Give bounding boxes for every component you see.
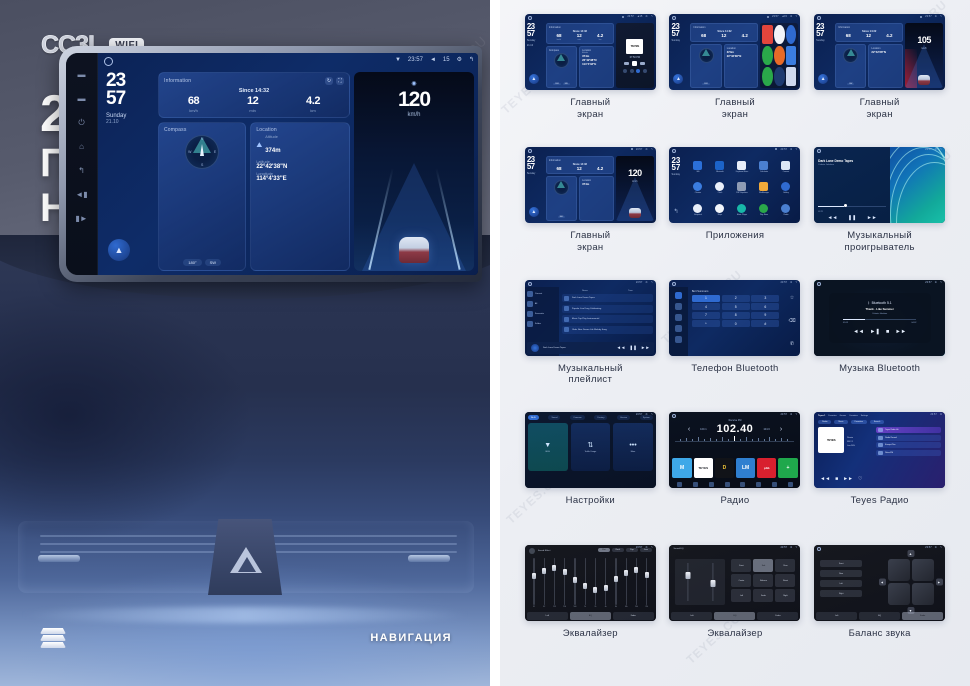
- sidebar-item[interactable]: Favourite: [527, 311, 557, 317]
- head-unit-screen[interactable]: ▬ ▬ ⏻ ⌂ ↰ ◄▮ ▮► ▼ 23:57 ◄ 15 ⚙ ↰: [66, 53, 478, 275]
- gear-icon[interactable]: ⚙: [790, 148, 792, 151]
- stop-icon[interactable]: [632, 61, 637, 66]
- information-card[interactable]: Information Since 14:32 68 12 4.2: [835, 23, 903, 42]
- gear-icon[interactable]: ⚙: [940, 413, 942, 416]
- volume-down-icon[interactable]: ▬: [78, 71, 86, 79]
- app-icon-spotify[interactable]: [762, 46, 772, 65]
- progress-slider[interactable]: [843, 319, 917, 320]
- gear-icon[interactable]: ⚙: [645, 413, 647, 416]
- thumbnail-music-player[interactable]: Dark Lane Demo Tapes Cubeta Jukebox 02:2…: [814, 147, 945, 223]
- play-pause-icon[interactable]: ►❚: [870, 329, 880, 335]
- app-icon-maps[interactable]: [715, 204, 724, 213]
- dial-key[interactable]: 7: [692, 312, 720, 319]
- speaker-rear-right[interactable]: [912, 583, 934, 605]
- next-station-icon[interactable]: ›: [780, 426, 782, 433]
- stop-icon[interactable]: ■: [886, 329, 889, 335]
- app-icon-music[interactable]: [762, 25, 772, 44]
- station-list[interactable]: Teyes Radio Hit Radio Record Europa Plus…: [876, 427, 941, 456]
- fader-key[interactable]: Right: [775, 589, 795, 602]
- filter-music[interactable]: Music: [834, 420, 847, 424]
- app-icon-bluetooth[interactable]: [715, 161, 724, 170]
- app-icon-calculator[interactable]: [759, 161, 768, 170]
- gallery-item[interactable]: 23:57 ⚙ ↰ Current All Favourite Folder N…: [518, 280, 663, 413]
- teyes-radio-filters[interactable]: Radio Music Favorites Search: [814, 417, 945, 424]
- settings-card-wifi[interactable]: ▼ Wi-Fi: [528, 423, 568, 471]
- app-item[interactable]: Clock: [709, 178, 730, 198]
- preset-rock[interactable]: Rock: [612, 548, 625, 552]
- app-icon-radio[interactable]: [774, 46, 784, 65]
- location-card[interactable]: Location 374m 22°42'38"N: [724, 44, 759, 89]
- fader-key[interactable]: Fader: [753, 589, 773, 602]
- app-item[interactable]: Wifi: [687, 157, 708, 177]
- speed-widget[interactable]: speed-icon ◉ 120 km/h: [354, 72, 474, 271]
- fader-key[interactable]: Reset: [775, 574, 795, 587]
- home-circle-icon[interactable]: [817, 547, 821, 551]
- tab-left[interactable]: Left: [816, 612, 857, 620]
- tab-eq[interactable]: EQ: [570, 612, 611, 620]
- back-icon[interactable]: ↰: [795, 15, 797, 18]
- thumbnail-home-screen-speed-red[interactable]: 23:57 ⚙ ↰ 23 57 Sunday ▲ Inf: [814, 14, 945, 90]
- hardware-button-rail[interactable]: ▬ ▬ ⏻ ⌂ ↰ ◄▮ ▮►: [66, 53, 98, 275]
- location-card[interactable]: Location ⛰ Altitude 374m Latitude: [250, 122, 350, 271]
- eq-band-sliders[interactable]: 31 62 125 250 500 1k 2k 4k 8k 16k 20k 22…: [529, 558, 652, 608]
- gallery-item[interactable]: 23:57 ◄15 ⚙ ↰ 23 57 Sunday ▲: [663, 14, 808, 147]
- head-unit-display[interactable]: ▼ 23:57 ◄ 15 ⚙ ↰ 23 57 Sunday 21.10 ▲: [98, 53, 478, 275]
- prev-track-icon[interactable]: ◄◄: [827, 215, 837, 221]
- compass-card[interactable]: 180°: [690, 44, 721, 89]
- thumbnail-radio[interactable]: 23:57 ⚙ ↰ Receive FM ‹ 100.1 102.40 104.…: [669, 412, 800, 488]
- home-circle-icon[interactable]: [672, 282, 676, 286]
- app-icon-gallery[interactable]: [781, 182, 790, 191]
- pause-icon[interactable]: ❚❚: [848, 215, 856, 221]
- back-icon[interactable]: ↰: [651, 413, 653, 416]
- eq-tabs[interactable]: Left EQ Fader: [816, 612, 943, 620]
- gear-icon[interactable]: ⚙: [935, 281, 937, 284]
- list-icon[interactable]: [725, 482, 730, 487]
- balance-pad[interactable]: ▲ ▼ ◄ ►: [888, 559, 934, 605]
- information-card[interactable]: Information ↻ ⛶ Since 14:32 68 km: [158, 72, 350, 118]
- eq-band[interactable]: 62: [539, 558, 549, 608]
- back-icon[interactable]: ↰: [795, 413, 797, 416]
- app-icon-mail[interactable]: [786, 46, 796, 65]
- navigation-arrow-icon[interactable]: ▲: [529, 207, 539, 217]
- volume-icon[interactable]: ◄: [430, 57, 436, 63]
- more-icon[interactable]: [643, 69, 647, 73]
- thumbnail-bluetooth-music[interactable]: 23:57 ⚙ ↰ ᛒBluetooth 5.1 Thank - Like Su…: [814, 280, 945, 356]
- playlist-icon[interactable]: [636, 69, 640, 73]
- dialer-pad[interactable]: Bert Summers 1 2 3 4 5 6 7 8 9: [688, 287, 784, 356]
- dialer-sidebar[interactable]: [669, 287, 687, 356]
- gear-icon[interactable]: ⚙: [645, 148, 647, 151]
- fader-key[interactable]: Sub: [753, 559, 773, 572]
- filter-radio[interactable]: Radio: [818, 420, 831, 424]
- app-icon-music-player[interactable]: [737, 204, 746, 213]
- information-card[interactable]: Information Since 14:32 68 12 4.2: [546, 156, 614, 175]
- home-circle-icon[interactable]: [528, 282, 532, 286]
- gallery-item[interactable]: 23:57 ⚙ ↰ Sound EQ Front Sub Rear: [663, 545, 808, 678]
- fader-slider[interactable]: [710, 563, 716, 601]
- information-card[interactable]: Information Since 14:32 68km/h 12min 4.2…: [546, 23, 614, 44]
- tab-teyes-1[interactable]: Teyes 1: [818, 415, 825, 417]
- gear-icon[interactable]: ⚙: [457, 56, 462, 63]
- tab-factory[interactable]: Factory: [594, 415, 607, 420]
- app-item[interactable]: Music Player: [731, 199, 752, 219]
- gear-icon[interactable]: ⚙: [790, 281, 792, 284]
- gallery-item[interactable]: Dark Lane Demo Tapes Cubeta Jukebox 02:2…: [807, 147, 952, 280]
- clock-widget[interactable]: 23 57 Sunday 21.10 ▲: [527, 23, 544, 88]
- list-item[interactable]: Radio Record: [876, 435, 941, 441]
- preset-stations[interactable]: M TEYES D LM pbb +: [672, 458, 797, 478]
- location-card[interactable]: Location Altitude 374m 22°42'38"N 114°4'…: [579, 46, 614, 89]
- navigation-arrow-icon[interactable]: ▲: [673, 74, 683, 84]
- eq-band[interactable]: 20k: [631, 558, 641, 608]
- home-circle-icon[interactable]: [104, 57, 113, 66]
- tab-fader[interactable]: Fader: [757, 612, 798, 620]
- app-icon-wifi[interactable]: [693, 161, 702, 170]
- home-circle-icon[interactable]: [672, 149, 676, 153]
- prev-track-icon[interactable]: ◄◄: [616, 345, 625, 350]
- af-icon[interactable]: [756, 482, 761, 487]
- eq-band[interactable]: 500: [570, 558, 580, 608]
- next-track-icon[interactable]: [640, 62, 645, 65]
- compass-card[interactable]: Compass N E S W 180°: [158, 122, 246, 271]
- tab-left[interactable]: Left: [671, 612, 712, 620]
- list-item[interactable]: Teyes Radio Hit: [876, 427, 941, 433]
- speaker-front-right[interactable]: [912, 559, 934, 581]
- eq-band[interactable]: 125: [549, 558, 559, 608]
- back-icon[interactable]: ↰: [651, 546, 653, 549]
- band-icon[interactable]: [677, 482, 682, 487]
- thumbnail-bluetooth-phone[interactable]: 23:57 ⚙ ↰ Bert Summers: [669, 280, 800, 356]
- gallery-item[interactable]: 23:57 ⚙ ↰ 23 57 Sunday ↰ Wifi Bluetooth …: [663, 147, 808, 280]
- dial-key[interactable]: 6: [751, 303, 779, 310]
- gallery-item[interactable]: 23:57 ⚙ ↰ ᛒBluetooth 5.1 Thank - Like Su…: [807, 280, 952, 413]
- thumbnail-equalizer-fader[interactable]: 23:57 ⚙ ↰ Sound EQ Front Sub Rear: [669, 545, 800, 621]
- gallery-item[interactable]: 23:57 ◄15 ⚙ ↰ 23 57 Sunday 21.10 ▲: [518, 14, 663, 147]
- gear-icon[interactable]: ⚙: [645, 546, 647, 549]
- expand-icon[interactable]: ⛶: [336, 77, 344, 85]
- pause-icon[interactable]: ❚❚: [629, 345, 637, 351]
- thumbnail-apps[interactable]: 23:57 ⚙ ↰ 23 57 Sunday ↰ Wifi Bluetooth …: [669, 147, 800, 223]
- app-icon-chrome[interactable]: [693, 182, 702, 191]
- dial-key[interactable]: 3: [751, 295, 779, 302]
- gallery-item[interactable]: 23:57 ⚙ ↰ Sound Effect Flat Rock Pop Jaz…: [518, 545, 663, 678]
- gallery-item[interactable]: 23:57 ⚙ Teyes 1 Favorites Genres Countri…: [807, 412, 952, 545]
- navigation-arrow-icon[interactable]: ▲: [108, 239, 130, 261]
- search-icon[interactable]: [693, 482, 698, 487]
- app-drawer[interactable]: Wifi Bluetooth Keyboard Store Calculator…: [685, 155, 798, 222]
- thumbnail-music-playlist[interactable]: 23:57 ⚙ ↰ Current All Favourite Folder N…: [525, 280, 656, 356]
- call-icon[interactable]: ✆: [790, 341, 794, 347]
- station-preset[interactable]: pbb: [757, 458, 776, 478]
- dial-key[interactable]: 8: [722, 312, 750, 319]
- home-circle-icon[interactable]: [672, 16, 676, 20]
- search-icon[interactable]: [675, 314, 682, 321]
- app-icon-settings[interactable]: [774, 67, 784, 86]
- app-icon-keyboard-store[interactable]: [737, 161, 746, 170]
- thumbnail-teyes-radio[interactable]: 23:57 ⚙ Teyes 1 Favorites Genres Countri…: [814, 412, 945, 488]
- eq-band[interactable]: 31: [529, 558, 539, 608]
- back-icon[interactable]: ↰: [795, 281, 797, 284]
- vent-control[interactable]: [38, 555, 80, 562]
- prev-track-icon[interactable]: ◄◄: [853, 329, 864, 335]
- list-item[interactable]: Retro FM: [876, 450, 941, 456]
- station-preset[interactable]: D: [715, 458, 734, 478]
- ta-icon[interactable]: [772, 482, 777, 487]
- contacts-icon[interactable]: [675, 303, 682, 310]
- location-card[interactable]: Location 22°42'38"N: [868, 44, 903, 89]
- dial-key[interactable]: 4: [692, 303, 720, 310]
- gear-icon[interactable]: ⚙: [790, 15, 792, 18]
- prev-station-icon[interactable]: ‹: [688, 426, 690, 433]
- dial-key[interactable]: 2: [722, 295, 750, 302]
- fader-sliders[interactable]: [675, 559, 725, 605]
- frequency-scale[interactable]: [675, 437, 794, 442]
- location-card[interactable]: Location 374m: [579, 176, 614, 221]
- next-track-icon[interactable]: ▮►: [75, 215, 87, 223]
- back-icon[interactable]: ↰: [940, 15, 942, 18]
- settings-card-traffic[interactable]: ⇅ Traffic Usage: [571, 423, 611, 471]
- refresh-icon[interactable]: ↻: [325, 77, 333, 85]
- backspace-icon[interactable]: ⌫: [788, 318, 795, 324]
- next-track-icon[interactable]: ►►: [641, 345, 650, 350]
- home-circle-icon[interactable]: [528, 16, 532, 20]
- back-icon[interactable]: ↰: [940, 546, 942, 549]
- shuffle-icon[interactable]: [623, 69, 627, 73]
- back-icon[interactable]: ↰: [795, 148, 797, 151]
- thumbnail-home-screen-speed[interactable]: 23:57 ⚙ ↰ 23 57 Sunday ▲ Inf: [525, 147, 656, 223]
- gear-icon[interactable]: ⚙: [790, 413, 792, 416]
- app-item[interactable]: FileManager: [753, 178, 774, 198]
- fader-keypad[interactable]: Front Sub Rear Center Balance Reset Left…: [731, 559, 795, 602]
- back-icon[interactable]: ↰: [940, 148, 942, 151]
- filter-search[interactable]: Search: [870, 420, 884, 424]
- station-preset[interactable]: TEYES: [694, 458, 713, 478]
- media-widget[interactable]: TEYES 07:50 PM: [616, 23, 654, 88]
- progress-slider[interactable]: [818, 206, 886, 207]
- arrow-left-icon[interactable]: ◄: [879, 579, 886, 586]
- dial-key[interactable]: 9: [751, 312, 779, 319]
- station-preset[interactable]: +: [778, 458, 797, 478]
- fader-key[interactable]: Left: [731, 589, 751, 602]
- speed-widget[interactable]: 105 km/h: [905, 23, 943, 88]
- fader-key[interactable]: Balance: [753, 574, 773, 587]
- power-icon[interactable]: ⏻: [78, 119, 84, 127]
- app-item[interactable]: Play Store: [753, 199, 774, 219]
- tab-sound[interactable]: Sound: [548, 415, 560, 420]
- eq-band[interactable]: 4k: [601, 558, 611, 608]
- app-icon-clock[interactable]: [715, 182, 724, 191]
- volume-up-icon[interactable]: ▬: [78, 95, 86, 103]
- next-track-icon[interactable]: ►►: [867, 215, 877, 221]
- tab-settings[interactable]: Settings: [861, 415, 868, 417]
- app-item[interactable]: Camera: [775, 157, 796, 177]
- clock-widget[interactable]: 23 57 Sunday 21.10 ▲: [102, 72, 154, 271]
- information-card[interactable]: Information Since 14:32 68 12 4.2: [690, 23, 758, 42]
- radio-toolbar[interactable]: [671, 482, 798, 487]
- speaker-front-left[interactable]: [888, 559, 910, 581]
- eq-band[interactable]: 8k: [611, 558, 621, 608]
- speaker-rear-left[interactable]: [888, 583, 910, 605]
- home-circle-icon[interactable]: [817, 149, 821, 153]
- gallery-item[interactable]: 23:57 ⚙ ↰ 23 57 Sunday ▲ Inf: [518, 147, 663, 280]
- compass-card[interactable]: SW: [835, 44, 866, 89]
- back-icon[interactable]: ↰: [795, 546, 797, 549]
- arrow-right-icon[interactable]: ►: [936, 579, 943, 586]
- app-item[interactable]: Kinopoisk: [687, 199, 708, 219]
- app-item[interactable]: DSP Equalizer: [731, 178, 752, 198]
- call-log-icon[interactable]: [675, 325, 682, 332]
- sidebar-item[interactable]: All: [527, 301, 557, 307]
- app-item[interactable]: Gallery: [775, 178, 796, 198]
- back-icon[interactable]: ↰: [940, 281, 942, 284]
- app-item[interactable]: Maps: [709, 199, 730, 219]
- back-icon[interactable]: ↰: [78, 167, 85, 175]
- app-icon-radio[interactable]: [781, 204, 790, 213]
- fader-slider[interactable]: [685, 563, 691, 601]
- gear-icon[interactable]: ⚙: [645, 281, 647, 284]
- equalizer-icon[interactable]: [709, 482, 714, 487]
- dialer-actions[interactable]: ☆ ⌫ ✆: [783, 287, 800, 356]
- layers-icon[interactable]: [40, 628, 66, 648]
- settings-card-more[interactable]: ••• More: [613, 423, 653, 471]
- eq-band[interactable]: 16k: [621, 558, 631, 608]
- clock-widget[interactable]: 23 57 Sunday ▲: [816, 23, 833, 88]
- thumbnail-home-screen-apps[interactable]: 23:57 ◄15 ⚙ ↰ 23 57 Sunday ▲: [669, 14, 800, 90]
- home-circle-icon[interactable]: [817, 16, 821, 20]
- app-icon-camera[interactable]: [781, 161, 790, 170]
- app-icon-all-apps[interactable]: [786, 67, 796, 86]
- station-preset[interactable]: M: [672, 458, 691, 478]
- next-track-icon[interactable]: ►►: [843, 476, 853, 482]
- thumbnail-equalizer[interactable]: 23:57 ⚙ ↰ Sound Effect Flat Rock Pop Jaz…: [525, 545, 656, 621]
- back-icon[interactable]: ↰: [651, 148, 653, 151]
- gallery-item[interactable]: 23:57 ⚙ ↰ Front Rear Left Right: [807, 545, 952, 678]
- home-circle-icon[interactable]: [672, 414, 676, 418]
- app-shortcuts-widget[interactable]: [760, 23, 798, 88]
- tab-fader[interactable]: Fader: [902, 612, 943, 620]
- app-item[interactable]: Radio: [775, 199, 796, 219]
- stop-icon[interactable]: ■: [835, 476, 838, 482]
- favorite-icon[interactable]: ☆: [790, 295, 794, 301]
- navigation-arrow-icon[interactable]: ▲: [818, 74, 828, 84]
- back-icon[interactable]: ↰: [673, 208, 678, 215]
- dial-key[interactable]: 5: [722, 303, 750, 310]
- tab-countries[interactable]: Countries: [849, 415, 858, 417]
- app-icon-chrome[interactable]: [774, 25, 784, 44]
- rds-icon[interactable]: [740, 482, 745, 487]
- fader-key[interactable]: Rear: [775, 559, 795, 572]
- gear-icon[interactable]: ⚙: [935, 148, 937, 151]
- gear-icon[interactable]: ⚙: [935, 15, 937, 18]
- gallery-item[interactable]: 23:57 ⚙ ↰ Bert Summers: [663, 280, 808, 413]
- filter-favorites[interactable]: Favorites: [851, 420, 867, 424]
- tab-eq[interactable]: EQ: [714, 612, 755, 620]
- app-item[interactable]: Chrome: [687, 178, 708, 198]
- gallery-item[interactable]: 23:57 ⚙ ↰ Receive FM ‹ 100.1 102.40 104.…: [663, 412, 808, 545]
- app-item[interactable]: Bluetooth: [709, 157, 730, 177]
- tab-common[interactable]: Common: [570, 415, 584, 420]
- thumbnail-home-screen-media[interactable]: 23:57 ◄15 ⚙ ↰ 23 57 Sunday 21.10 ▲: [525, 14, 656, 90]
- home-circle-icon[interactable]: [528, 149, 532, 153]
- eq-band[interactable]: 22k: [642, 558, 652, 608]
- navigation-arrow-icon[interactable]: ▲: [529, 74, 539, 84]
- clock-widget[interactable]: 23 57 Sunday ▲: [527, 156, 544, 221]
- repeat-icon[interactable]: [630, 69, 634, 73]
- gallery-item[interactable]: 23:57 ⚙ ↰ Wi-Fi Sound Common Factory Ver…: [518, 412, 663, 545]
- compass-card[interactable]: 180°: [546, 176, 577, 221]
- dialpad-icon[interactable]: [675, 292, 682, 299]
- tab-fader[interactable]: Fader: [613, 612, 654, 620]
- speed-widget[interactable]: 120 km/h: [616, 156, 654, 221]
- favorite-icon[interactable]: ♡: [858, 476, 862, 482]
- prev-track-icon[interactable]: [624, 62, 629, 65]
- list-item[interactable]: Europa Plus: [876, 442, 941, 448]
- tab-wifi[interactable]: Wi-Fi: [528, 415, 539, 420]
- eq-tabs[interactable]: Left EQ Fader: [671, 612, 798, 620]
- app-icon-filemanager[interactable]: [759, 182, 768, 191]
- app-icon-maps[interactable]: [786, 25, 796, 44]
- app-item[interactable]: Keyboard Store: [731, 157, 752, 177]
- thumbnail-settings[interactable]: 23:57 ⚙ ↰ Wi-Fi Sound Common Factory Ver…: [525, 412, 656, 488]
- gear-icon[interactable]: ⚙: [935, 546, 937, 549]
- sidebar-item[interactable]: Current: [527, 291, 557, 297]
- eq-band[interactable]: 250: [560, 558, 570, 608]
- next-track-icon[interactable]: ►►: [895, 329, 906, 335]
- app-icon-dsp-equalizer[interactable]: [737, 182, 746, 191]
- app-icon-play-store[interactable]: [762, 67, 772, 86]
- tab-left[interactable]: Left: [527, 612, 568, 620]
- dial-key[interactable]: #: [751, 320, 779, 327]
- sidebar-item[interactable]: Folder: [527, 321, 557, 327]
- settings-icon[interactable]: [675, 336, 682, 343]
- table-row[interactable]: Popular Live Drag Celebrating: [562, 305, 653, 313]
- clock-widget[interactable]: 23 57 Sunday ▲: [671, 23, 688, 88]
- arrow-up-icon[interactable]: ▲: [907, 550, 914, 557]
- fader-key[interactable]: Center: [731, 574, 751, 587]
- preset-flat[interactable]: Flat: [598, 548, 609, 552]
- tab-genres[interactable]: Genres: [840, 415, 847, 417]
- prev-track-icon[interactable]: ◄◄: [820, 476, 830, 482]
- now-playing-bar[interactable]: Dark Lane Demo Tapes ◄◄ ❚❚ ►►: [527, 342, 654, 354]
- dial-key[interactable]: 1: [692, 295, 720, 302]
- app-icon-kinopoisk[interactable]: [693, 204, 702, 213]
- gallery-item[interactable]: 23:57 ⚙ ↰ 23 57 Sunday ▲ Inf: [807, 14, 952, 147]
- back-icon[interactable]: ↰: [469, 56, 474, 63]
- vent-control[interactable]: [408, 555, 450, 562]
- fader-key[interactable]: Front: [731, 559, 751, 572]
- station-preset[interactable]: LM: [736, 458, 755, 478]
- table-row[interactable]: Music Top Play Instrumental: [562, 315, 653, 323]
- eq-tabs[interactable]: Left EQ Fader: [527, 612, 654, 620]
- prev-track-icon[interactable]: ◄▮: [75, 191, 87, 199]
- app-icon-play-store[interactable]: [759, 204, 768, 213]
- home-icon[interactable]: ⌂: [79, 143, 84, 151]
- tab-version[interactable]: Version: [617, 415, 630, 420]
- table-row[interactable]: Older New Dream Life Melody Song: [562, 326, 653, 334]
- loc-icon[interactable]: [788, 482, 793, 487]
- thumbnail-sound-balance[interactable]: 23:57 ⚙ ↰ Front Rear Left Right: [814, 545, 945, 621]
- tab-eq[interactable]: EQ: [859, 612, 900, 620]
- compass-card[interactable]: Compass 180°SW: [546, 46, 577, 89]
- settings-tabs[interactable]: Wi-Fi Sound Common Factory Version Syste…: [528, 415, 653, 420]
- table-row[interactable]: Dark Lane Demo Tapes: [562, 294, 653, 302]
- eq-band[interactable]: 2k: [590, 558, 600, 608]
- app-item[interactable]: Calculator: [753, 157, 774, 177]
- eq-band[interactable]: 1k: [580, 558, 590, 608]
- gear-icon[interactable]: ⚙: [790, 546, 792, 549]
- dial-key[interactable]: *: [692, 320, 720, 327]
